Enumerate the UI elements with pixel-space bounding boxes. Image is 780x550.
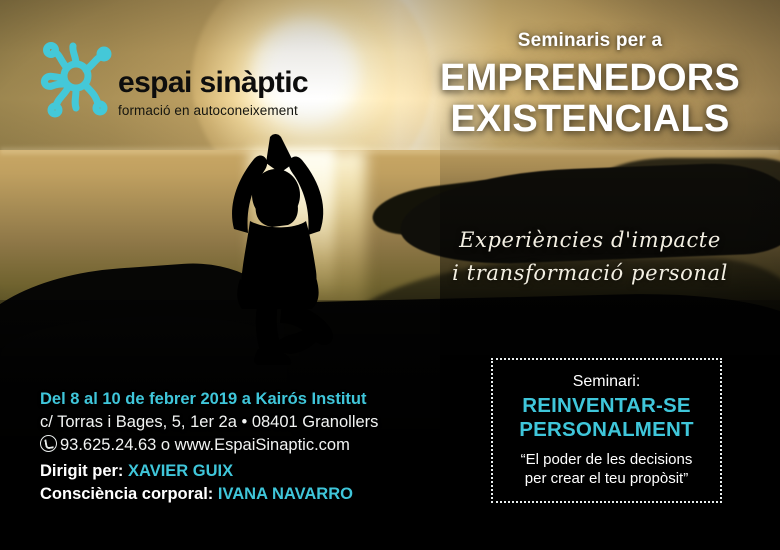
event-dates: Del 8 al 10 de febrer 2019 a Kairós Inst… (40, 388, 460, 411)
neuron-synapse-icon (40, 42, 112, 118)
phone-circle-icon (40, 435, 57, 452)
headline-block: Seminaris per a EMPRENEDORS EXISTENCIALS (420, 30, 760, 140)
seminar-title: REINVENTAR-SE PERSONALMENT (519, 394, 693, 442)
body-name: IVANA NAVARRO (218, 485, 353, 503)
director-name: XAVIER GUIX (128, 462, 233, 480)
event-contact-line: 93.625.24.63 o www.EspaiSinaptic.com (40, 433, 460, 457)
brand-logo[interactable]: espai sinàptic formació en autoconeixeme… (40, 44, 308, 118)
seminar-quote-line-2: per crear el teu propòsit” (521, 470, 693, 489)
seminar-quote: “El poder de les decisions per crear el … (521, 451, 693, 489)
seminar-title-line-2: PERSONALMENT (519, 418, 693, 442)
credits-block: Dirigit per: XAVIER GUIX Consciència cor… (40, 460, 353, 507)
script-tagline: Experiències d'impacte i transformació p… (420, 224, 760, 289)
event-info-block: Del 8 al 10 de febrer 2019 a Kairós Inst… (40, 388, 460, 457)
headline-line-2: EXISTENCIALS (420, 99, 760, 140)
seminar-label: Seminari: (573, 372, 641, 391)
body-credit: Consciència corporal: IVANA NAVARRO (40, 483, 353, 506)
seminar-quote-line-1: “El poder de les decisions (521, 451, 693, 470)
poster: espai sinàptic formació en autoconeixeme… (0, 0, 780, 550)
yoga-tree-pose-silhouette (210, 133, 380, 365)
script-tagline-line-1: Experiències d'impacte (420, 224, 760, 257)
event-contact[interactable]: 93.625.24.63 o www.EspaiSinaptic.com (60, 436, 350, 454)
headline-line-1: EMPRENEDORS (420, 58, 760, 99)
seminar-box: Seminari: REINVENTAR-SE PERSONALMENT “El… (491, 358, 722, 503)
headline-kicker: Seminaris per a (420, 30, 760, 52)
seminar-title-line-1: REINVENTAR-SE (519, 394, 693, 418)
logo-text-block: espai sinàptic formació en autoconeixeme… (118, 68, 308, 118)
logo-tagline: formació en autoconeixement (118, 104, 308, 118)
director-label: Dirigit per: (40, 462, 123, 480)
director-credit: Dirigit per: XAVIER GUIX (40, 460, 353, 483)
script-tagline-line-2: i transformació personal (420, 257, 760, 290)
event-address: c/ Torras i Bages, 5, 1er 2a • 08401 Gra… (40, 411, 460, 434)
logo-name: espai sinàptic (118, 68, 308, 98)
body-label: Consciència corporal: (40, 485, 213, 503)
headline-main: EMPRENEDORS EXISTENCIALS (420, 58, 760, 140)
